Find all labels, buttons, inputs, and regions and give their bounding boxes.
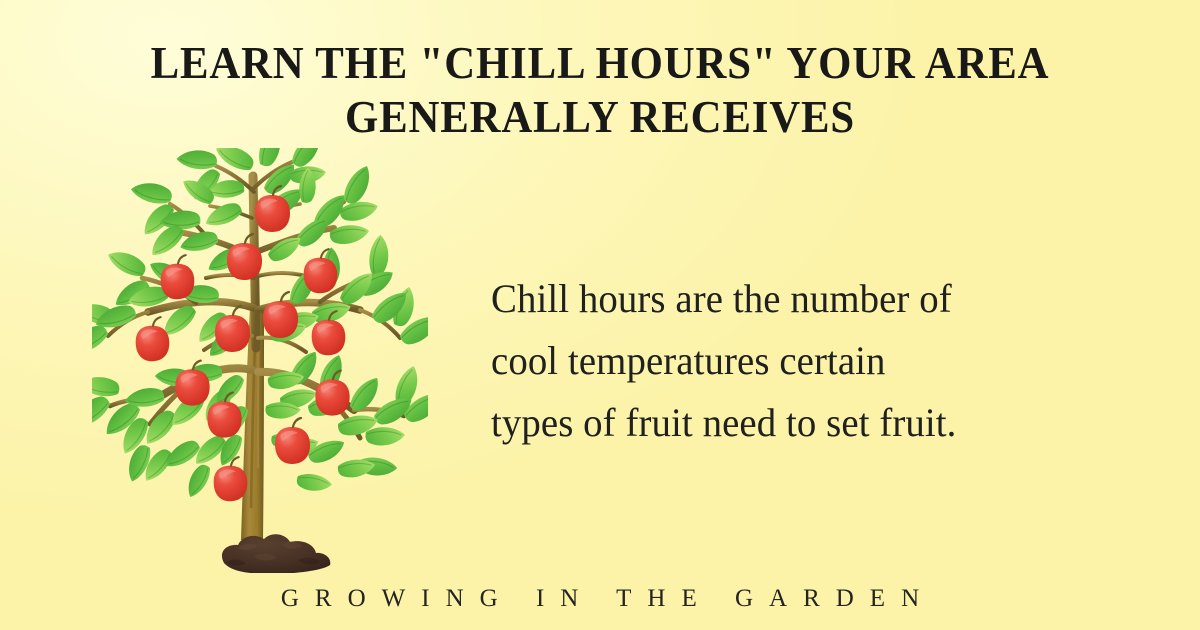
body-line-2: cool temperatures certain <box>491 330 1063 392</box>
soil-mound <box>222 534 330 573</box>
body-paragraph: Chill hours are the number of cool tempe… <box>491 268 1063 454</box>
body-line-3: types of fruit need to set fruit. <box>491 392 1063 454</box>
page-title: LEARN THE "CHILL HOURS" YOUR AREA GENERA… <box>42 36 1158 144</box>
body-line-1: Chill hours are the number of <box>491 268 1063 330</box>
apple-tree-illustration <box>92 148 428 573</box>
infographic-canvas: LEARN THE "CHILL HOURS" YOUR AREA GENERA… <box>0 0 1200 630</box>
brand-footer: GROWING IN THE GARDEN <box>0 585 1200 613</box>
